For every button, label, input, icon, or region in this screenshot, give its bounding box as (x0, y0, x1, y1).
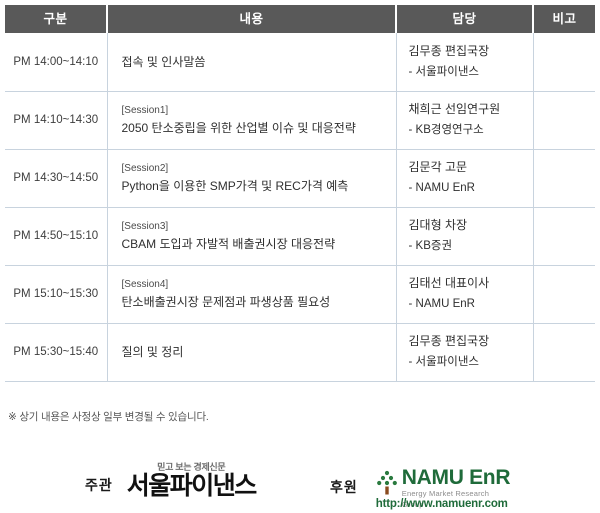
row-content: [Session2] Python을 이용한 SMP가격 및 REC가격 예측 (107, 149, 396, 207)
table-row: PM 14:30~14:50 [Session2] Python을 이용한 SM… (5, 149, 595, 207)
row-note (533, 207, 595, 265)
row-note (533, 149, 595, 207)
seminar-agenda-page: 구분 내용 담당 비고 PM 14:00~14:10 접속 및 인사말씀 김무종… (0, 0, 600, 513)
row-title: Python을 이용한 SMP가격 및 REC가격 예측 (122, 179, 396, 193)
sponsor-role-label: 후원 (330, 477, 358, 501)
row-title: 질의 및 정리 (122, 345, 396, 359)
row-person: 김무종 편집국장 (409, 331, 533, 352)
row-session-tag: [Session1] (122, 105, 396, 116)
row-time: PM 14:50~15:10 (5, 207, 107, 265)
footer-logos: 주관 믿고 보는 경제신문 서울파이낸스 후원 (0, 455, 600, 513)
column-header-note: 비고 (533, 5, 595, 33)
row-note (533, 33, 595, 91)
row-title: 접속 및 인사말씀 (122, 55, 396, 69)
row-org: - KB경영연구소 (409, 120, 533, 140)
row-title: CBAM 도입과 자발적 배출권시장 대응전략 (122, 237, 396, 251)
row-session-tag: [Session2] (122, 163, 396, 174)
seoulfinance-logo: 믿고 보는 경제신문 서울파이낸스 (127, 463, 256, 499)
row-time: PM 14:00~14:10 (5, 33, 107, 91)
row-time: PM 15:30~15:40 (5, 323, 107, 381)
namu-enr-name: NAMU EnR (402, 467, 511, 489)
row-org: - 서울파이낸스 (409, 62, 533, 82)
row-session-tag: [Session3] (122, 221, 396, 232)
table-row: PM 15:30~15:40 질의 및 정리 김무종 편집국장 - 서울파이낸스 (5, 323, 595, 381)
row-person: 김문각 고문 (409, 157, 533, 178)
row-content: 질의 및 정리 (107, 323, 396, 381)
row-time: PM 14:30~14:50 (5, 149, 107, 207)
row-charge: 김무종 편집국장 - 서울파이낸스 (396, 323, 533, 381)
row-note (533, 323, 595, 381)
column-header-content: 내용 (107, 5, 396, 33)
row-person: 김태선 대표이사 (409, 273, 533, 294)
table-header-row: 구분 내용 담당 비고 (5, 5, 595, 33)
host-role-label: 주관 (85, 475, 113, 499)
tree-icon (376, 470, 398, 500)
host-block: 주관 믿고 보는 경제신문 서울파이낸스 (85, 463, 256, 499)
row-org: - KB증권 (409, 236, 533, 256)
row-charge: 김대형 차장 - KB증권 (396, 207, 533, 265)
row-time: PM 14:10~14:30 (5, 91, 107, 149)
disclaimer-note: ※ 상기 내용은 사정상 일부 변경될 수 있습니다. (8, 409, 209, 424)
row-org: - 서울파이낸스 (409, 352, 533, 372)
table-header: 구분 내용 담당 비고 (5, 5, 595, 33)
row-time: PM 15:10~15:30 (5, 265, 107, 323)
seoulfinance-name: 서울파이낸스 (127, 474, 256, 499)
sponsor-block: 후원 N (330, 467, 511, 511)
namu-enr-logo: NAMU EnR Energy Market Research Group ht… (376, 467, 511, 511)
namu-enr-url[interactable]: http://www.namuenr.com (376, 498, 508, 510)
table-row: PM 15:10~15:30 [Session4] 탄소배출권시장 문제점과 파… (5, 265, 595, 323)
row-person: 김무종 편집국장 (409, 41, 533, 62)
row-title: 2050 탄소중립을 위한 산업별 이슈 및 대응전략 (122, 121, 396, 135)
row-content: 접속 및 인사말씀 (107, 33, 396, 91)
row-title: 탄소배출권시장 문제점과 파생상품 필요성 (122, 295, 396, 309)
row-session-tag: [Session4] (122, 279, 396, 290)
row-charge: 채희근 선임연구원 - KB경영연구소 (396, 91, 533, 149)
row-content: [Session3] CBAM 도입과 자발적 배출권시장 대응전략 (107, 207, 396, 265)
row-org: - NAMU EnR (409, 178, 533, 198)
row-charge: 김태선 대표이사 - NAMU EnR (396, 265, 533, 323)
row-content: [Session4] 탄소배출권시장 문제점과 파생상품 필요성 (107, 265, 396, 323)
row-charge: 김무종 편집국장 - 서울파이낸스 (396, 33, 533, 91)
column-header-time: 구분 (5, 5, 107, 33)
column-header-charge: 담당 (396, 5, 533, 33)
row-person: 채희근 선임연구원 (409, 99, 533, 120)
table-row: PM 14:00~14:10 접속 및 인사말씀 김무종 편집국장 - 서울파이… (5, 33, 595, 91)
row-org: - NAMU EnR (409, 294, 533, 314)
schedule-table: 구분 내용 담당 비고 PM 14:00~14:10 접속 및 인사말씀 김무종… (5, 5, 595, 382)
table-row: PM 14:50~15:10 [Session3] CBAM 도입과 자발적 배… (5, 207, 595, 265)
row-content: [Session1] 2050 탄소중립을 위한 산업별 이슈 및 대응전략 (107, 91, 396, 149)
seoulfinance-tagline: 믿고 보는 경제신문 (127, 463, 256, 472)
schedule-table-container: 구분 내용 담당 비고 PM 14:00~14:10 접속 및 인사말씀 김무종… (5, 5, 595, 382)
row-person: 김대형 차장 (409, 215, 533, 236)
table-row: PM 14:10~14:30 [Session1] 2050 탄소중립을 위한 … (5, 91, 595, 149)
row-note (533, 91, 595, 149)
row-charge: 김문각 고문 - NAMU EnR (396, 149, 533, 207)
table-body: PM 14:00~14:10 접속 및 인사말씀 김무종 편집국장 - 서울파이… (5, 33, 595, 381)
row-note (533, 265, 595, 323)
